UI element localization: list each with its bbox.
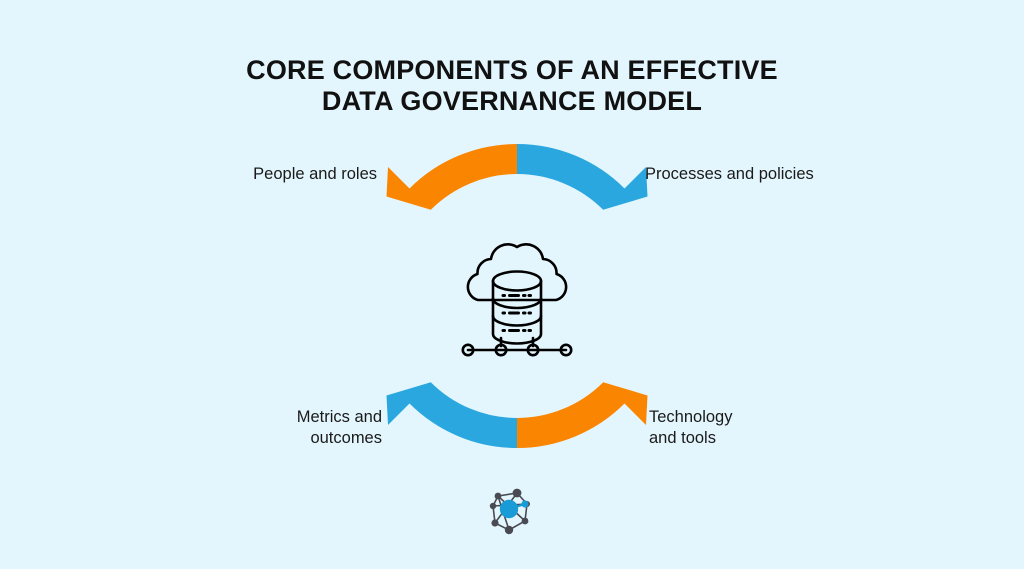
ring-segment-metrics[interactable] (387, 382, 518, 448)
ring-segment-people[interactable] (387, 144, 518, 210)
ring-segment-technology[interactable] (517, 382, 648, 448)
segment-label-people: People and roles (87, 164, 377, 185)
cloud-database-network-icon (452, 234, 582, 362)
ring-segment-processes[interactable] (517, 144, 648, 210)
cycle-diagram: People and roles Processes and policies … (0, 0, 1024, 569)
segment-label-technology: Technology and tools (649, 407, 939, 449)
segment-label-metrics: Metrics and outcomes (92, 407, 382, 449)
segment-label-processes: Processes and policies (645, 164, 945, 185)
network-nodes-logo (487, 487, 537, 535)
